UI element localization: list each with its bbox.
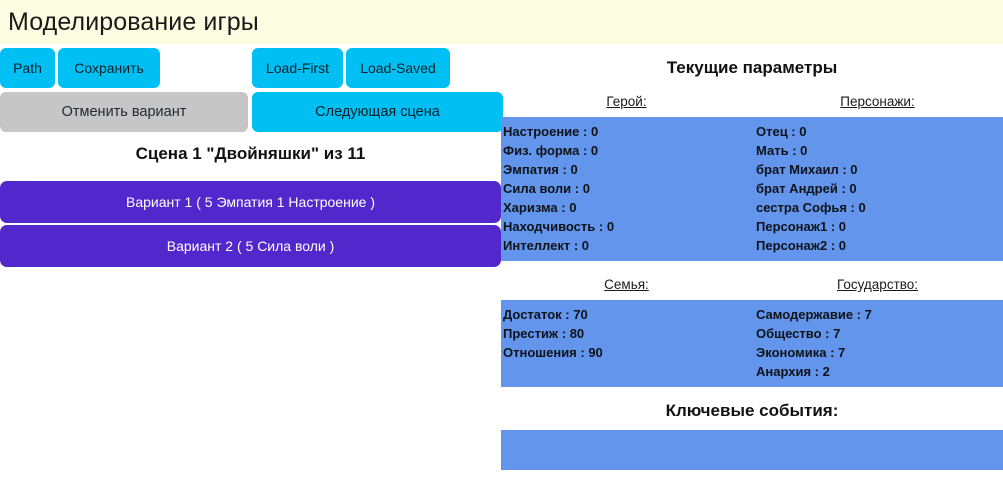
stat-line: Мать : 0 [756,141,1003,160]
family-heading: Семья: [501,277,752,292]
app-root: Моделирование игры Path Сохранить Load-F… [0,0,1003,485]
header-bar: Моделирование игры [0,0,1003,44]
variant-list: Вариант 1 ( 5 Эмпатия 1 Настроение ) Вар… [0,181,501,269]
family-state-headings: Семья: Государство: [501,277,1003,292]
toolbar-primary: Path Сохранить Load-First Load-Saved [0,48,501,88]
variant-button-1[interactable]: Вариант 1 ( 5 Эмпатия 1 Настроение ) [0,181,501,223]
stat-line: Престиж : 80 [503,324,752,343]
stat-line: сестра Софья : 0 [756,198,1003,217]
stat-line: Достаток : 70 [503,305,752,324]
load-saved-button[interactable]: Load-Saved [346,48,450,88]
hero-characters-stats: Настроение : 0 Физ. форма : 0 Эмпатия : … [501,117,1003,261]
toolbar-secondary: Отменить вариант Следующая сцена [0,92,501,132]
stat-line: Анархия : 2 [756,362,1003,381]
next-scene-button[interactable]: Следующая сцена [252,92,503,132]
key-events-list [501,430,1003,470]
stat-line: Находчивость : 0 [503,217,752,236]
stat-line: Харизма : 0 [503,198,752,217]
cancel-variant-button[interactable]: Отменить вариант [0,92,248,132]
hero-heading: Герой: [501,94,752,109]
path-button[interactable]: Path [0,48,55,88]
stat-line: Сила воли : 0 [503,179,752,198]
variant-button-2[interactable]: Вариант 2 ( 5 Сила воли ) [0,225,501,267]
stat-line: Отношения : 90 [503,343,752,362]
key-events-title: Ключевые события: [501,401,1003,421]
family-state-stats: Достаток : 70 Престиж : 80 Отношения : 9… [501,300,1003,387]
stat-line: Настроение : 0 [503,122,752,141]
scene-title: Сцена 1 "Двойняшки" из 11 [0,144,501,164]
left-panel: Path Сохранить Load-First Load-Saved Отм… [0,44,501,485]
parameters-panel: Текущие параметры Герой: Персонажи: Наст… [501,44,1003,485]
family-stat-column: Достаток : 70 Престиж : 80 Отношения : 9… [501,305,752,381]
stat-line: Персонаж2 : 0 [756,236,1003,255]
state-stat-column: Самодержавие : 7 Общество : 7 Экономика … [752,305,1003,381]
save-button[interactable]: Сохранить [58,48,160,88]
stat-line: Персонаж1 : 0 [756,217,1003,236]
stat-line: брат Михаил : 0 [756,160,1003,179]
load-first-button[interactable]: Load-First [252,48,343,88]
parameters-title: Текущие параметры [501,58,1003,78]
stat-line: Самодержавие : 7 [756,305,1003,324]
page-title: Моделирование игры [0,0,259,44]
stat-line: Интеллект : 0 [503,236,752,255]
state-heading: Государство: [752,277,1003,292]
hero-characters-headings: Герой: Персонажи: [501,94,1003,109]
stat-line: Общество : 7 [756,324,1003,343]
hero-stat-column: Настроение : 0 Физ. форма : 0 Эмпатия : … [501,122,752,255]
stat-line: Экономика : 7 [756,343,1003,362]
characters-stat-column: Отец : 0 Мать : 0 брат Михаил : 0 брат А… [752,122,1003,255]
stat-line: брат Андрей : 0 [756,179,1003,198]
stat-line: Физ. форма : 0 [503,141,752,160]
stat-line: Отец : 0 [756,122,1003,141]
characters-heading: Персонажи: [752,94,1003,109]
stat-line: Эмпатия : 0 [503,160,752,179]
